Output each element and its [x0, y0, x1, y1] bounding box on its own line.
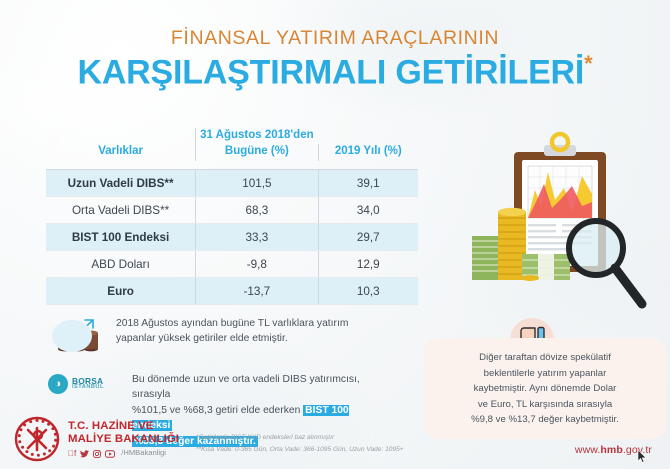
- table-cell-since: 101,5: [242, 177, 271, 190]
- magnifying-glass-icon: [569, 221, 642, 304]
- mouse-cursor: [638, 450, 647, 463]
- table-cell-since: 68,3: [245, 204, 268, 217]
- footnotes: *Getirilerde BIST KYD endeksleri baz alı…: [196, 432, 404, 455]
- table-cell-asset: Uzun Vadeli DIBS**: [68, 177, 174, 190]
- note-dibs-line1: Bu dönemde uzun ve orta vadeli DIBS yatı…: [132, 372, 368, 403]
- table-cell-asset: Orta Vadeli DIBS**: [72, 204, 169, 217]
- comparison-table: Varlıklar 31 Ağustos 2018'den Bugüne (%)…: [46, 128, 418, 305]
- website-bold: hmb: [600, 444, 622, 456]
- website-prefix: www.: [575, 444, 601, 456]
- table-cell-2019: 34,0: [357, 204, 380, 217]
- table-cell-since: -13,7: [244, 285, 271, 298]
- ministry-text: T.C. HAZİNE VE MALİYE BAKANLIĞI f /HMBa…: [68, 420, 179, 459]
- twitter-icon[interactable]: [80, 450, 89, 458]
- ministry-line1: T.C. HAZİNE VE: [68, 420, 179, 433]
- title-main-text: KARŞILAŞTIRMALI GETİRİLERİ: [77, 54, 584, 92]
- table-cell-2019: 39,1: [357, 177, 380, 190]
- coin-stack-gold: [498, 208, 526, 280]
- table-cell-2019: 29,7: [357, 231, 380, 244]
- social-handle[interactable]: /HMBakanligi: [121, 449, 166, 458]
- table-cell-since: -9,8: [247, 258, 267, 271]
- note-dibs-line2-pre: %101,5 ve %68,3 getiri elde ederken: [132, 405, 303, 416]
- table-row: Euro -13,7 10,3: [46, 278, 418, 305]
- bubble-line3: kaybetmiştir. Aynı dönemde Dolar: [434, 381, 656, 397]
- page-title: FİNANSAL YATIRIM ARAÇLARININ KARŞILAŞTIR…: [0, 28, 670, 91]
- instagram-icon[interactable]: [93, 450, 101, 458]
- ministry-line2: MALİYE BAKANLIĞI: [68, 433, 179, 446]
- ministry-logo-block: T.C. HAZİNE VE MALİYE BAKANLIĞI f /HMBa…: [14, 416, 179, 462]
- title-subtitle: FİNANSAL YATIRIM ARAÇLARININ: [0, 28, 670, 49]
- table-cell-2019: 12,9: [357, 258, 380, 271]
- table-header-assets: Varlıklar: [46, 144, 195, 162]
- banknote-stack-right: [521, 254, 570, 281]
- borsa-istanbul-wordmark: BORSA İSTANBUL: [72, 377, 104, 392]
- bubble-line5: %9,8 ve %13,7 değer kaybetmiştir.: [434, 412, 656, 428]
- borsa-istanbul-mark-icon: ◑: [48, 374, 68, 394]
- table-header-since-line2: Bugüne (%): [196, 144, 317, 160]
- facebook-icon[interactable]: f: [68, 450, 76, 458]
- note-tl-assets-line1: 2018 Ağustos ayından bugüne TL varlıklar…: [116, 316, 348, 331]
- table-cell-asset: BIST 100 Endeksi: [72, 231, 169, 244]
- youtube-icon[interactable]: [105, 450, 115, 458]
- bubble-line2: beklentilerle yatırım yapanlar: [434, 366, 656, 382]
- table-header-2019: 2019 Yılı (%): [318, 144, 418, 162]
- clipboard-chart-coins-magnifier-illustration: [452, 128, 662, 318]
- table-header-since-aug-2018: 31 Ağustos 2018'den Bugüne (%): [195, 128, 317, 161]
- borsa-sub: İSTANBUL: [72, 385, 104, 391]
- icon-halo: [52, 320, 92, 352]
- note-tl-assets: 2018 Ağustos ayından bugüne TL varlıklar…: [52, 316, 352, 356]
- turkish-state-seal-icon: [14, 416, 60, 462]
- social-links[interactable]: f /HMBakanligi: [68, 449, 179, 458]
- area-chart-graphic: [528, 166, 592, 218]
- coins-growth-icon: [52, 316, 106, 356]
- footnote-1: *Getirilerde BIST KYD endeksleri baz alı…: [196, 432, 404, 444]
- footnote-2: **Kısa Vade: 0-365 Gün, Orta Vade: 366-1…: [196, 444, 404, 456]
- note-fx-speculation: Diğer taraftan dövize spekülatif beklent…: [424, 338, 666, 439]
- table-row: Uzun Vadeli DIBS** 101,5 39,1: [46, 170, 418, 197]
- table-row: Orta Vadeli DIBS** 68,3 34,0: [46, 197, 418, 224]
- note-tl-assets-text: 2018 Ağustos ayından bugüne TL varlıklar…: [116, 316, 348, 347]
- note-tl-assets-line2: yapanlar yüksek getiriler elde etmiştir.: [116, 331, 348, 346]
- table-cell-2019: 10,3: [357, 285, 380, 298]
- table-row: ABD Doları -9,8 12,9: [46, 251, 418, 278]
- borsa-mark-glyph: ◑: [55, 379, 62, 390]
- bubble-line4: ve Euro, TL karşısında sırasıyla: [434, 397, 656, 413]
- illustration-svg: [452, 128, 662, 318]
- table-cell-asset: ABD Doları: [91, 258, 149, 271]
- bubble-line1: Diğer taraftan dövize spekülatif: [434, 350, 656, 366]
- title-asterisk: *: [584, 51, 592, 76]
- table-cell-asset: Euro: [107, 285, 134, 298]
- borsa-istanbul-logo: ◑ BORSA İSTANBUL: [48, 372, 122, 394]
- table-header-row: Varlıklar 31 Ağustos 2018'den Bugüne (%)…: [46, 128, 418, 169]
- infographic-canvas: FİNANSAL YATIRIM ARAÇLARININ KARŞILAŞTIR…: [0, 0, 670, 469]
- table-header-since-line1: 31 Ağustos 2018'den: [196, 128, 317, 144]
- table-row: BIST 100 Endeksi 33,3 29,7: [46, 224, 418, 251]
- table-cell-since: 33,3: [245, 231, 268, 244]
- title-main: KARŞILAŞTIRMALI GETİRİLERİ*: [0, 52, 670, 91]
